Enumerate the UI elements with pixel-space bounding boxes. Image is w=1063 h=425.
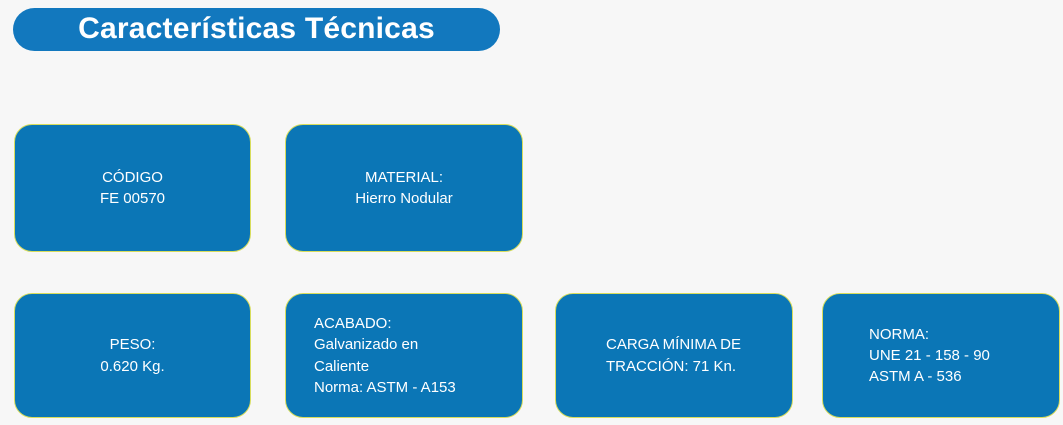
spec-card-norma-text: NORMA: UNE 21 - 158 - 90 ASTM A - 536 xyxy=(823,324,1059,388)
spec-card-codigo: CÓDIGO FE 00570 xyxy=(14,124,251,252)
spec-card-grid: CÓDIGO FE 00570 MATERIAL: Hierro Nodular… xyxy=(0,0,1063,425)
spec-card-material-text: MATERIAL: Hierro Nodular xyxy=(286,167,522,210)
spec-card-norma: NORMA: UNE 21 - 158 - 90 ASTM A - 536 xyxy=(822,293,1060,418)
spec-card-codigo-text: CÓDIGO FE 00570 xyxy=(15,167,250,210)
spec-card-carga-minima-de-traccion: CARGA MÍNIMA DE TRACCIÓN: 71 Kn. xyxy=(555,293,793,418)
spec-card-acabado-text: ACABADO: Galvanizado en Caliente Norma: … xyxy=(286,313,522,398)
spec-card-material: MATERIAL: Hierro Nodular xyxy=(285,124,523,252)
spec-card-peso: PESO: 0.620 Kg. xyxy=(14,293,251,418)
spec-card-acabado: ACABADO: Galvanizado en Caliente Norma: … xyxy=(285,293,523,418)
spec-sheet-page: Características Técnicas CÓDIGO FE 00570… xyxy=(0,0,1063,425)
spec-card-carga-minima-de-traccion-text: CARGA MÍNIMA DE TRACCIÓN: 71 Kn. xyxy=(556,334,792,377)
spec-card-peso-text: PESO: 0.620 Kg. xyxy=(15,334,250,377)
